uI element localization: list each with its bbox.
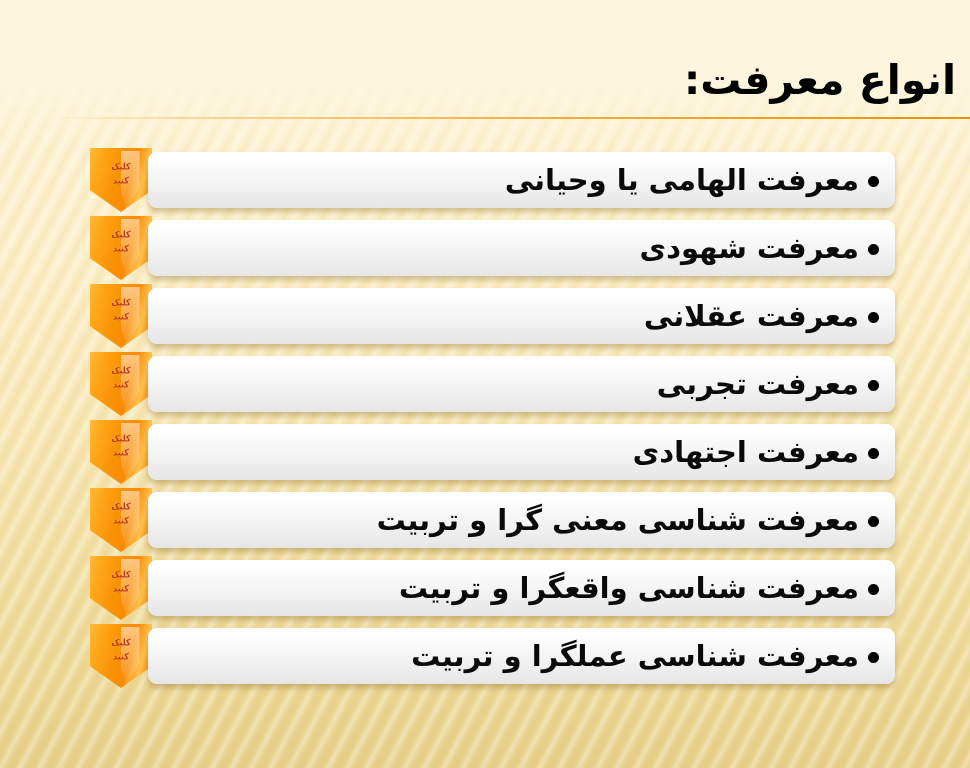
bullet-list: کلیککنیدمعرفت الهامی یا وحیانیکلیککنیدمع… <box>0 152 970 712</box>
bullet-icon <box>868 380 879 391</box>
list-item-bar[interactable]: معرفت شناسی معنی گرا و تربیت <box>148 492 895 548</box>
chevron-down-icon[interactable]: کلیککنید <box>90 284 152 348</box>
list-item[interactable]: کلیککنیدمعرفت الهامی یا وحیانی <box>0 152 970 208</box>
list-item[interactable]: کلیککنیدمعرفت شناسی واقعگرا و تربیت <box>0 560 970 616</box>
list-item-bar[interactable]: معرفت شناسی عملگرا و تربیت <box>148 628 895 684</box>
list-item-bar[interactable]: معرفت شهودی <box>148 220 895 276</box>
bullet-icon <box>868 176 879 187</box>
bullet-icon <box>868 516 879 527</box>
list-item[interactable]: کلیککنیدمعرفت شناسی معنی گرا و تربیت <box>0 492 970 548</box>
list-item-bar[interactable]: معرفت شناسی واقعگرا و تربیت <box>148 560 895 616</box>
chevron-shape <box>90 216 152 280</box>
chevron-shape <box>90 624 152 688</box>
list-item-label: معرفت شهودی <box>640 234 859 263</box>
list-item-label: معرفت الهامی یا وحیانی <box>505 166 859 195</box>
chevron-shape <box>90 352 152 416</box>
list-item[interactable]: کلیککنیدمعرفت اجتهادی <box>0 424 970 480</box>
chevron-down-icon[interactable]: کلیککنید <box>90 148 152 212</box>
chevron-down-icon[interactable]: کلیککنید <box>90 556 152 620</box>
page-title: انواع معرفت: <box>0 58 956 103</box>
list-item-label: معرفت تجربی <box>657 370 859 399</box>
chevron-shape <box>90 556 152 620</box>
list-item-bar[interactable]: معرفت اجتهادی <box>148 424 895 480</box>
list-item-bar[interactable]: معرفت الهامی یا وحیانی <box>148 152 895 208</box>
list-item-bar[interactable]: معرفت تجربی <box>148 356 895 412</box>
presentation-slide: انواع معرفت: کلیککنیدمعرفت الهامی یا وحی… <box>0 0 970 768</box>
list-item-bar[interactable]: معرفت عقلانی <box>148 288 895 344</box>
chevron-shape <box>90 284 152 348</box>
chevron-down-icon[interactable]: کلیککنید <box>90 420 152 484</box>
list-item-label: معرفت اجتهادی <box>633 438 859 467</box>
chevron-down-icon[interactable]: کلیککنید <box>90 216 152 280</box>
list-item-label: معرفت شناسی عملگرا و تربیت <box>411 642 859 671</box>
chevron-down-icon[interactable]: کلیککنید <box>90 352 152 416</box>
chevron-shape <box>90 420 152 484</box>
list-item[interactable]: کلیککنیدمعرفت عقلانی <box>0 288 970 344</box>
chevron-down-icon[interactable]: کلیککنید <box>90 488 152 552</box>
list-item[interactable]: کلیککنیدمعرفت شهودی <box>0 220 970 276</box>
bullet-icon <box>868 244 879 255</box>
list-item[interactable]: کلیککنیدمعرفت شناسی عملگرا و تربیت <box>0 628 970 684</box>
list-item[interactable]: کلیککنیدمعرفت تجربی <box>0 356 970 412</box>
title-divider <box>48 117 970 119</box>
list-item-label: معرفت شناسی معنی گرا و تربیت <box>377 506 859 535</box>
chevron-down-icon[interactable]: کلیککنید <box>90 624 152 688</box>
bullet-icon <box>868 312 879 323</box>
bullet-icon <box>868 652 879 663</box>
list-item-label: معرفت عقلانی <box>644 302 859 331</box>
chevron-shape <box>90 488 152 552</box>
bullet-icon <box>868 448 879 459</box>
bullet-icon <box>868 584 879 595</box>
chevron-shape <box>90 148 152 212</box>
list-item-label: معرفت شناسی واقعگرا و تربیت <box>399 574 859 603</box>
